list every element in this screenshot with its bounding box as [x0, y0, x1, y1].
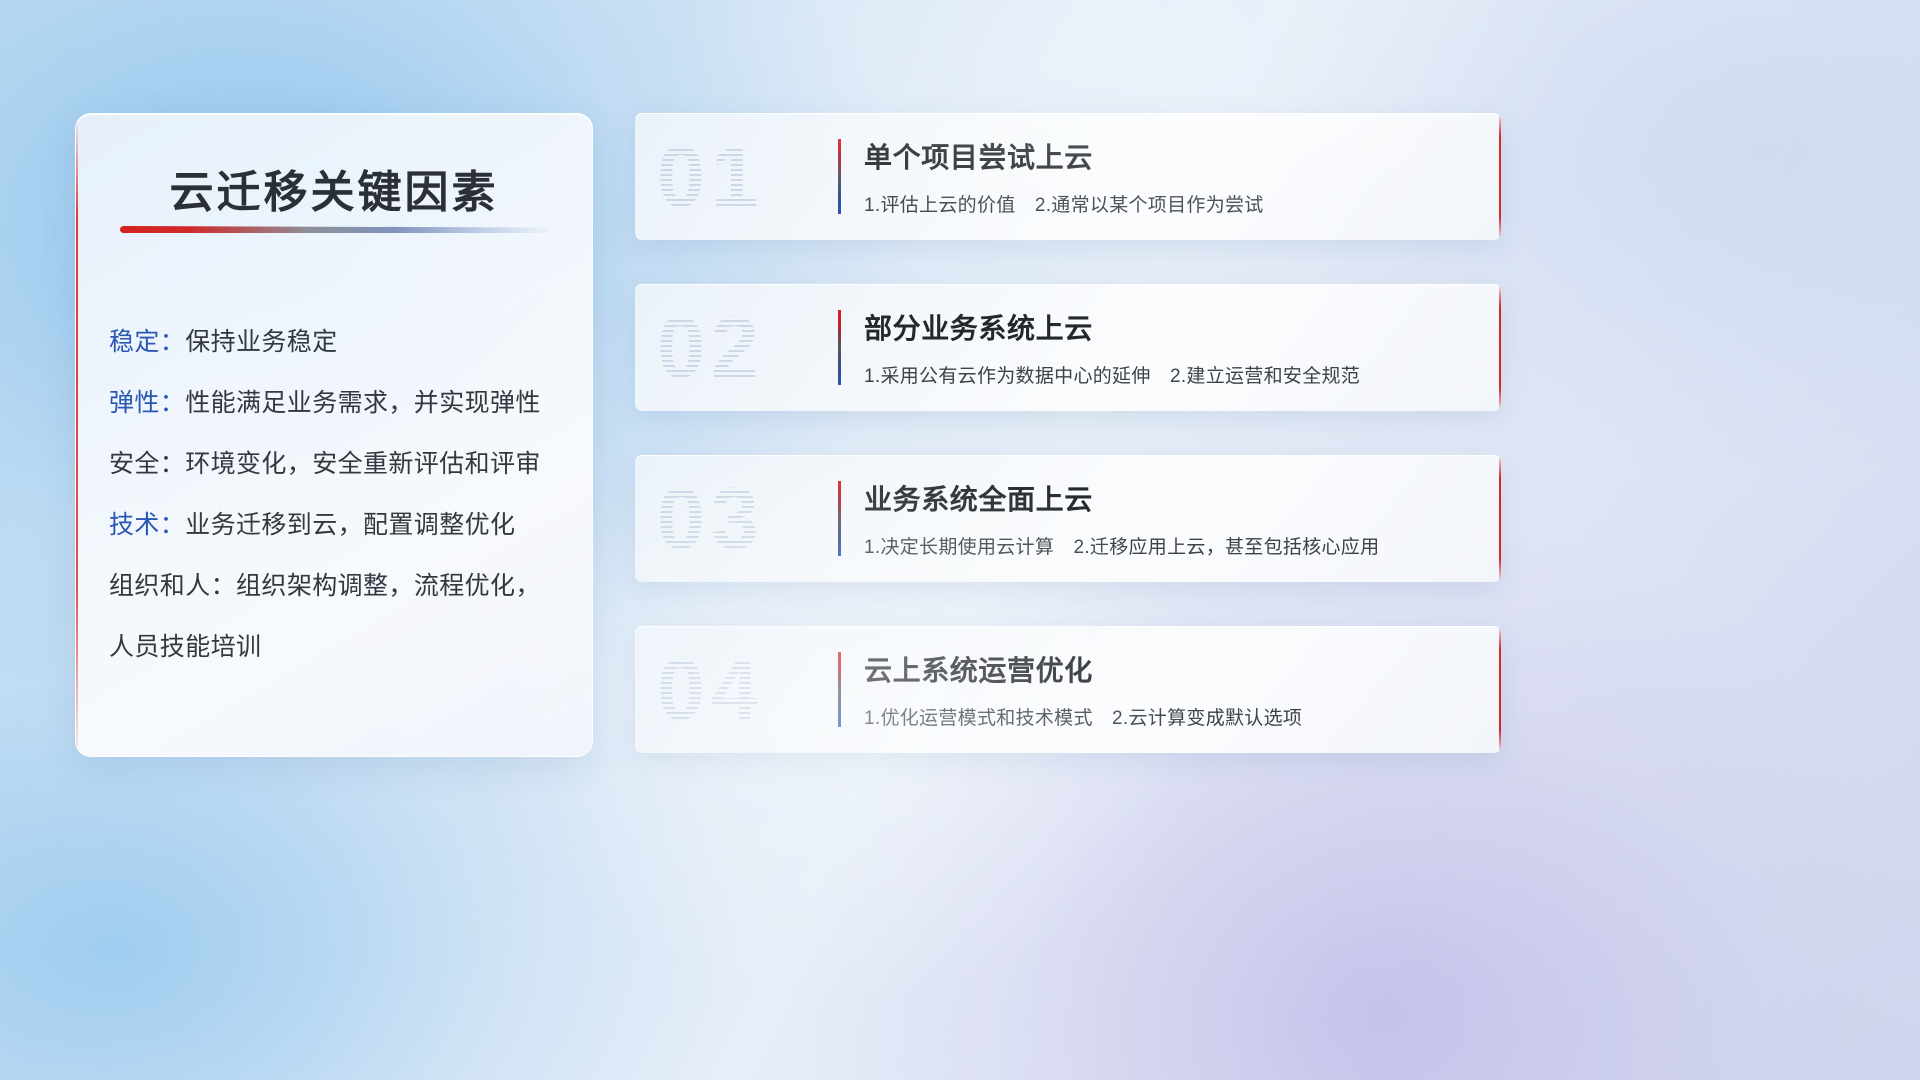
stage-card-04[interactable]: 04 云上系统运营优化 1.优化运营模式和技术模式 2.云计算变成默认选项 [635, 626, 1501, 753]
factor-item-organization: 组织和人：组织架构调整，流程优化， [109, 556, 568, 617]
factor-text: 保持业务稳定 [185, 328, 337, 356]
factor-item-stability: 稳定：保持业务稳定 [109, 312, 568, 373]
slide-canvas: 云迁移关键因素 稳定：保持业务稳定 弹性：性能满足业务需求，并实现弹性 安全：环… [0, 0, 1920, 1080]
stage-number: 04 [657, 647, 765, 733]
stage-subtitle: 1.评估上云的价值 2.通常以某个项目作为尝试 [864, 190, 1477, 217]
title-underline-accent [120, 226, 550, 233]
stage-number: 02 [657, 305, 765, 391]
key-factors-panel: 云迁移关键因素 稳定：保持业务稳定 弹性：性能满足业务需求，并实现弹性 安全：环… [75, 113, 593, 757]
factor-label: 组织和人： [109, 572, 236, 600]
stage-subtitle: 1.决定长期使用云计算 2.迁移应用上云，甚至包括核心应用 [864, 532, 1477, 559]
stage-card-02[interactable]: 02 部分业务系统上云 1.采用公有云作为数据中心的延伸 2.建立运营和安全规范 [635, 284, 1501, 411]
stage-content: 业务系统全面上云 1.决定长期使用云计算 2.迁移应用上云，甚至包括核心应用 [864, 483, 1477, 559]
factor-text: 环境变化，安全重新评估和评审 [185, 450, 541, 478]
stage-card-03[interactable]: 03 业务系统全面上云 1.决定长期使用云计算 2.迁移应用上云，甚至包括核心应… [635, 455, 1501, 582]
migration-stage-list: 01 单个项目尝试上云 1.评估上云的价值 2.通常以某个项目作为尝试 02 部… [635, 113, 1501, 797]
stage-title: 单个项目尝试上云 [864, 141, 1477, 175]
stage-title: 部分业务系统上云 [864, 312, 1477, 346]
factor-item-security: 安全：环境变化，安全重新评估和评审 [109, 434, 568, 495]
stage-subtitle: 1.采用公有云作为数据中心的延伸 2.建立运营和安全规范 [864, 361, 1477, 388]
stage-content: 部分业务系统上云 1.采用公有云作为数据中心的延伸 2.建立运营和安全规范 [864, 312, 1477, 388]
stage-title: 云上系统运营优化 [864, 654, 1477, 688]
stage-divider-accent [838, 139, 841, 214]
factor-label: 技术： [109, 511, 185, 539]
factor-text: 性能满足业务需求，并实现弹性 [185, 389, 541, 417]
factor-item-organization-continued: 人员技能培训 [109, 617, 568, 678]
stage-content: 云上系统运营优化 1.优化运营模式和技术模式 2.云计算变成默认选项 [864, 654, 1477, 730]
stage-number: 01 [657, 134, 765, 220]
stage-title: 业务系统全面上云 [864, 483, 1477, 517]
stage-number: 03 [657, 476, 765, 562]
stage-subtitle: 1.优化运营模式和技术模式 2.云计算变成默认选项 [864, 703, 1477, 730]
factor-text: 组织架构调整，流程优化， [236, 572, 541, 600]
factor-item-elasticity: 弹性：性能满足业务需求，并实现弹性 [109, 373, 568, 434]
stage-content: 单个项目尝试上云 1.评估上云的价值 2.通常以某个项目作为尝试 [864, 141, 1477, 217]
factor-item-technology: 技术：业务迁移到云，配置调整优化 [109, 495, 568, 556]
stage-card-01[interactable]: 01 单个项目尝试上云 1.评估上云的价值 2.通常以某个项目作为尝试 [635, 113, 1501, 240]
stage-divider-accent [838, 310, 841, 385]
page-title: 云迁移关键因素 [76, 156, 592, 220]
factor-label: 安全： [109, 450, 185, 478]
factor-label: 稳定： [109, 328, 185, 356]
factor-text: 人员技能培训 [109, 633, 261, 661]
factor-label: 弹性： [109, 389, 185, 417]
factor-text: 业务迁移到云，配置调整优化 [185, 511, 515, 539]
stage-divider-accent [838, 481, 841, 556]
stage-divider-accent [838, 652, 841, 727]
factor-list: 稳定：保持业务稳定 弹性：性能满足业务需求，并实现弹性 安全：环境变化，安全重新… [109, 312, 568, 678]
